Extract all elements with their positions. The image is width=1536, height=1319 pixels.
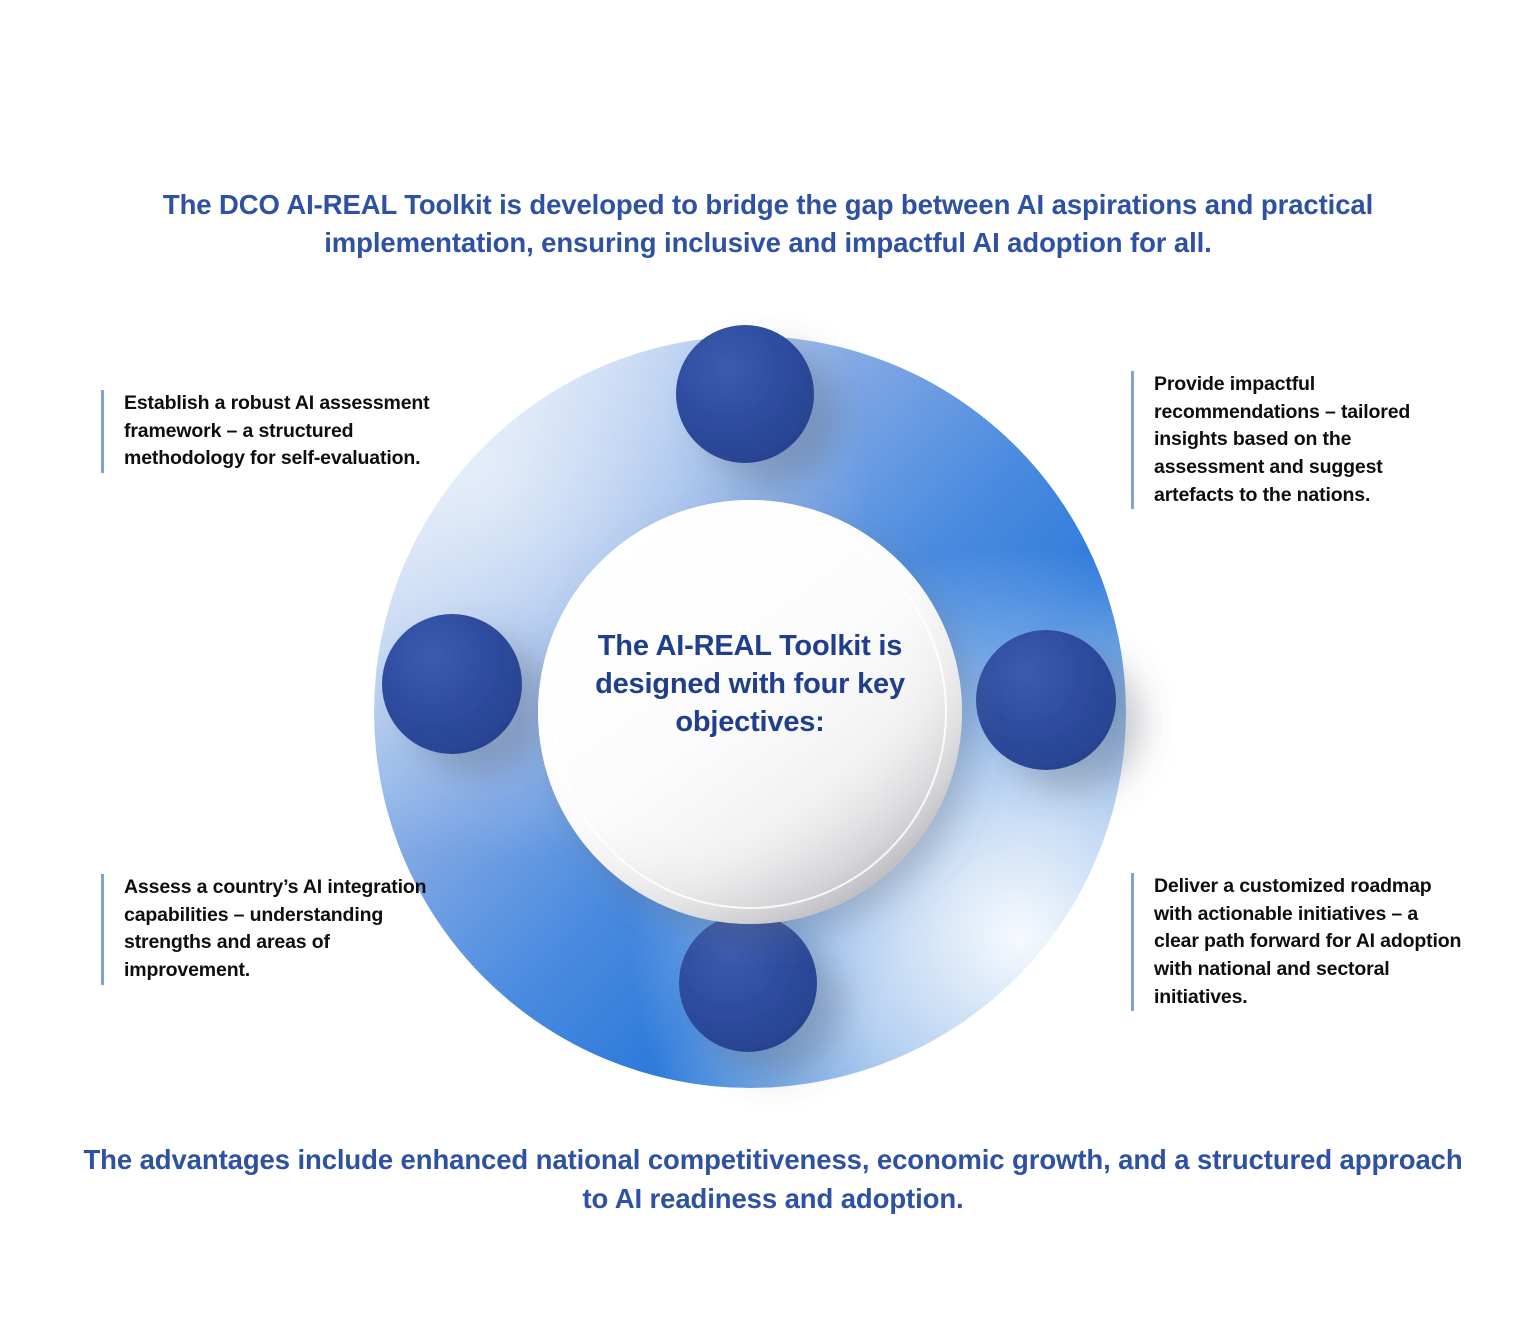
headline-text: The DCO AI-REAL Toolkit is developed to … [160, 186, 1376, 262]
ring-node-bottom [679, 914, 817, 1052]
ring-node-left [382, 614, 522, 754]
objective-callout-assess-capabilities: Assess a country’s AI integration capabi… [101, 874, 434, 985]
ring-node-right [976, 630, 1116, 770]
ring-node-top [676, 325, 814, 463]
objective-callout-assessment-framework: Establish a robust AI assessment framewo… [101, 390, 434, 473]
objective-callout-impactful-recommendations: Provide impactful recommendations – tail… [1131, 371, 1464, 509]
footnote-text: The advantages include enhanced national… [78, 1140, 1468, 1218]
objective-callout-customized-roadmap: Deliver a customized roadmap with action… [1131, 873, 1464, 1011]
center-sphere-label: The AI-REAL Toolkit is designed with fou… [545, 628, 955, 742]
